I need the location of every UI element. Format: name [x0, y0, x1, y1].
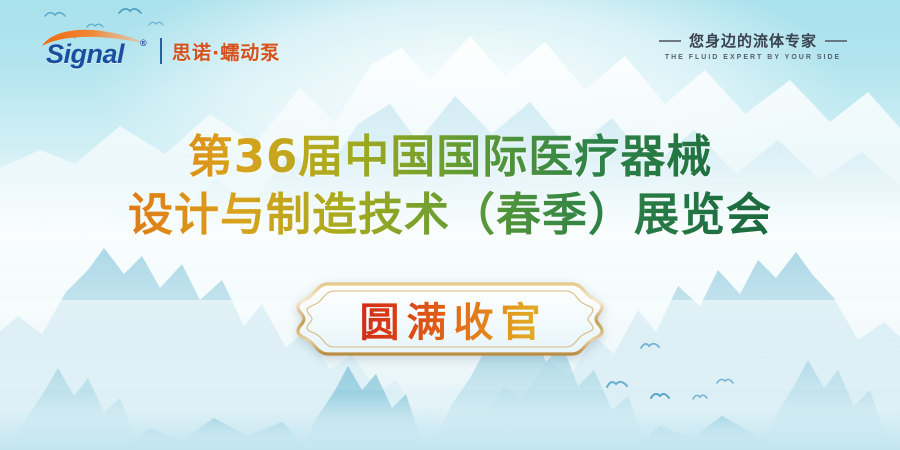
event-title-line-2: 设计与制造技术（春季）展览会 [0, 186, 900, 244]
brand-tagline: 您身边的流体专家 THE FLUID EXPERT BY YOUR SIDE [648, 30, 858, 61]
trademark-icon: ® [140, 38, 147, 48]
tagline-chinese: 您身边的流体专家 [689, 30, 817, 51]
bird-icon [148, 20, 164, 28]
bird-icon [650, 390, 670, 401]
plaque-label: 圆满收官 [353, 290, 548, 348]
tagline-english: THE FLUID EXPERT BY YOUR SIDE [648, 54, 858, 61]
logo-mark: Signal ® [40, 29, 152, 73]
bird-icon [606, 378, 628, 390]
logo-chinese-name: 思诺·蠕动泵 [172, 38, 280, 65]
event-title: 第36届中国国际医疗器械 设计与制造技术（春季）展览会 [0, 128, 900, 244]
tagline-rule-left [659, 40, 681, 42]
promo-banner: Signal ® 思诺·蠕动泵 您身边的流体专家 THE FLUID EXPER… [0, 0, 900, 450]
banner-header: Signal ® 思诺·蠕动泵 您身边的流体专家 THE FLUID EXPER… [0, 28, 900, 78]
status-plaque: 圆满收官 [290, 281, 610, 357]
plaque-text-wrap: 圆满收官 [290, 281, 610, 357]
event-title-line-1: 第36届中国国际医疗器械 [0, 128, 900, 186]
bird-icon [692, 392, 708, 401]
logo-wordmark: Signal [46, 41, 124, 68]
tagline-rule-right [825, 40, 847, 42]
brand-logo[interactable]: Signal ® 思诺·蠕动泵 [40, 28, 280, 74]
bird-icon [716, 376, 734, 386]
bird-icon [118, 6, 142, 17]
bird-icon [640, 340, 660, 351]
logo-divider [160, 38, 162, 64]
bird-icon [44, 10, 66, 20]
bottom-haze [0, 408, 900, 450]
